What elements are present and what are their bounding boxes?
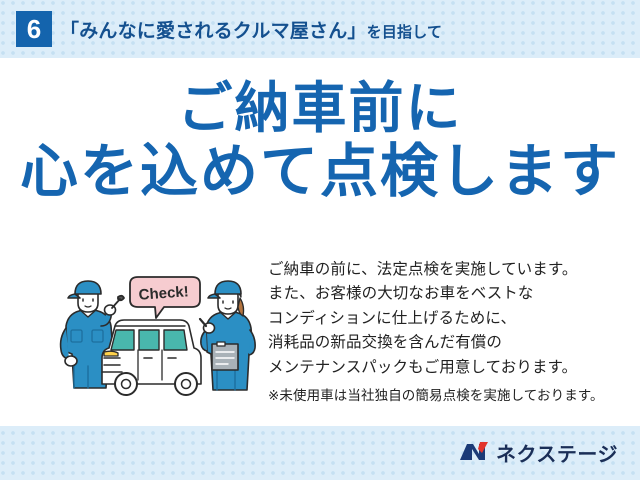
header-bar: 6 「みんなに愛されるクルマ屋さん」を目指して (0, 0, 640, 58)
advertisement-page: 6 「みんなに愛されるクルマ屋さん」を目指して ご納車前に 心を込めて点検します… (0, 0, 640, 480)
header-title-quoted: 「みんなに愛されるクルマ屋さん」 (60, 21, 367, 42)
header-title-tail: を目指して (367, 24, 443, 41)
headline-line-2: 心を込めて点検します (0, 142, 640, 201)
body-footnote: ※未使用車は当社独自の簡易点検を実施しております。 (268, 385, 628, 406)
mechanics-illustration: Check! (54, 266, 264, 406)
brand-logo: ネクステージ (459, 438, 618, 466)
body-line: ご納車の前に、法定点検を実施しています。 (268, 258, 628, 282)
body-copy: ご納車の前に、法定点検を実施しています。 また、お客様の大切なお車をベストな コ… (268, 258, 628, 407)
nextage-n-logo-icon (459, 440, 489, 464)
body-line: また、お客様の大切なお車をベストな (268, 282, 628, 306)
footer-bar: ネクステージ (0, 426, 640, 480)
body-line: メンテナンスパックもご用意しております。 (268, 356, 628, 380)
brand-name: ネクステージ (496, 438, 618, 467)
section-number-badge: 6 (16, 11, 52, 47)
content-card: ご納車前に 心を込めて点検します ご納車の前に、法定点検を実施しています。 また… (0, 58, 640, 426)
body-line: コンディションに仕上げるために、 (268, 307, 628, 331)
body-line: 消耗品の新品交換を含んだ有償の (268, 331, 628, 355)
header-title: 「みんなに愛されるクルマ屋さん」を目指して (60, 16, 442, 43)
speech-bubble-label: Check! (138, 283, 189, 303)
right-mechanic-figure (200, 281, 255, 390)
van-illustration (102, 320, 201, 395)
headline-line-1: ご納車前に (0, 80, 640, 136)
headline: ご納車前に 心を込めて点検します (0, 80, 640, 201)
